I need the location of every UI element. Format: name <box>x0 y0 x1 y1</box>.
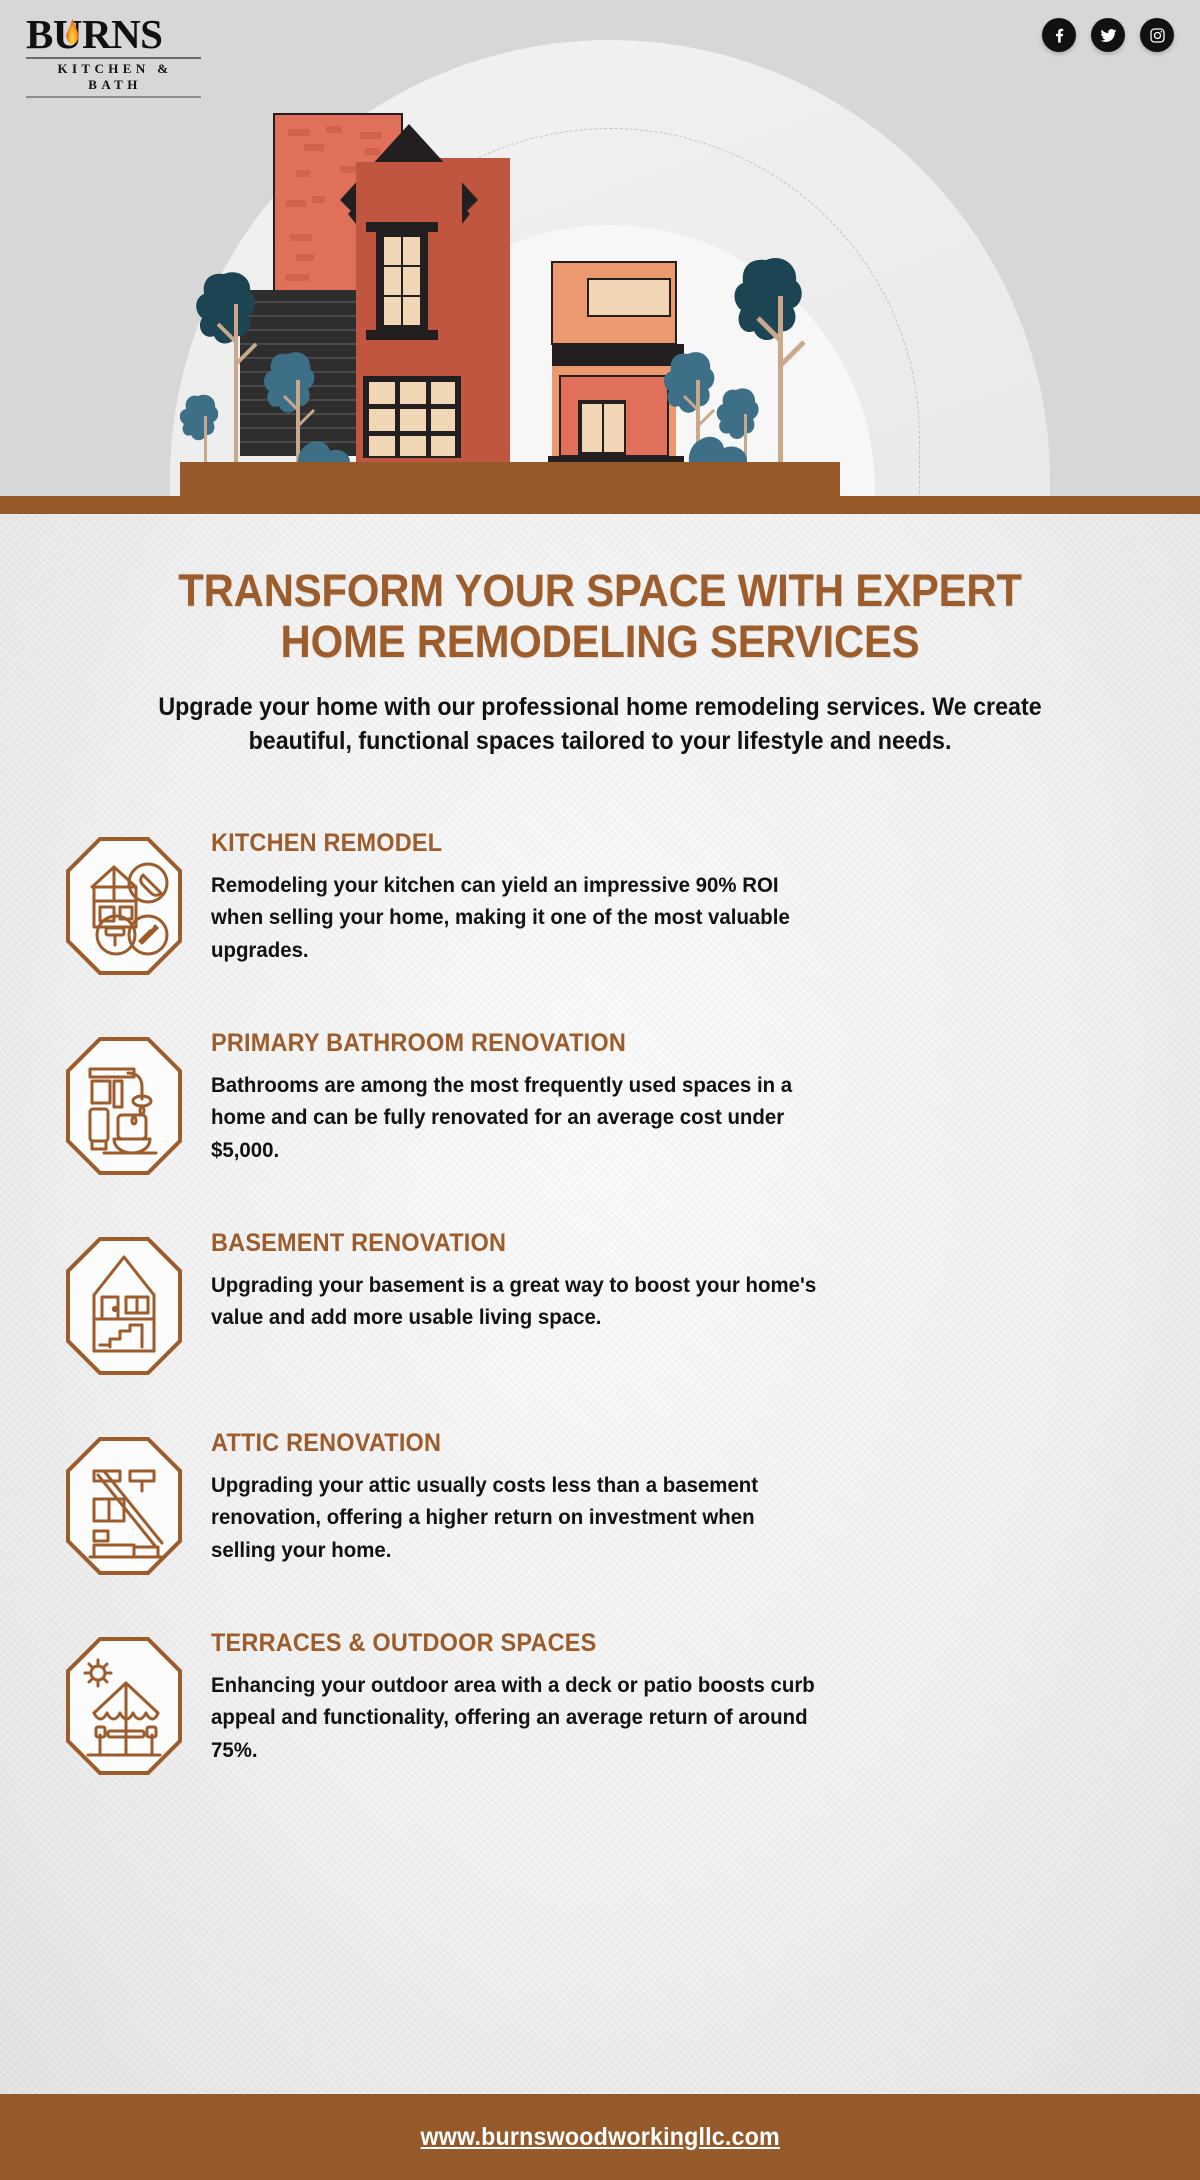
service-icon-wrap <box>46 1629 201 1777</box>
service-title: ATTIC RENOVATION <box>211 1429 1103 1458</box>
infographic-page: BURNS KITCHEN & BATH <box>0 0 1200 2180</box>
kitchen-remodel-icon <box>64 835 184 977</box>
website-url[interactable]: www.burnswoodworkingllc.com <box>420 2123 779 2152</box>
social-links <box>1042 18 1174 52</box>
service-description: Bathrooms are among the most frequently … <box>211 1069 819 1167</box>
service-text: KITCHEN REMODEL Remodeling your kitchen … <box>201 829 1160 967</box>
service-icon-wrap <box>46 1029 201 1177</box>
service-description: Upgrading your attic usually costs less … <box>211 1469 819 1567</box>
services-list: KITCHEN REMODEL Remodeling your kitchen … <box>0 829 1200 1801</box>
service-item-bathroom-renovation[interactable]: PRIMARY BATHROOM RENOVATION Bathrooms ar… <box>0 1029 1200 1201</box>
basement-renovation-icon <box>64 1235 184 1377</box>
service-title: BASEMENT RENOVATION <box>211 1229 1103 1258</box>
brand-tagline: KITCHEN & BATH <box>26 61 201 93</box>
service-icon-wrap <box>46 1229 201 1377</box>
service-title: PRIMARY BATHROOM RENOVATION <box>211 1029 1103 1058</box>
service-text: BASEMENT RENOVATION Upgrading your basem… <box>201 1229 1160 1334</box>
service-description: Enhancing your outdoor area with a deck … <box>211 1669 819 1767</box>
logo-divider-top <box>26 57 201 59</box>
main-content: TRANSFORM YOUR SPACE WITH EXPERT HOME RE… <box>0 514 1200 2094</box>
service-icon-wrap <box>46 829 201 977</box>
terraces-outdoor-icon <box>64 1635 184 1777</box>
service-text: PRIMARY BATHROOM RENOVATION Bathrooms ar… <box>201 1029 1160 1167</box>
brown-divider-bar <box>0 496 1200 514</box>
service-icon-wrap <box>46 1429 201 1577</box>
brand-logo[interactable]: BURNS KITCHEN & BATH <box>26 14 201 98</box>
page-subtitle: Upgrade your home with our professional … <box>126 690 1075 759</box>
service-item-kitchen-remodel[interactable]: KITCHEN REMODEL Remodeling your kitchen … <box>0 829 1200 1001</box>
service-description: Remodeling your kitchen can yield an imp… <box>211 869 819 967</box>
service-description: Upgrading your basement is a great way t… <box>211 1269 819 1334</box>
hero-section: BURNS KITCHEN & BATH <box>0 0 1200 496</box>
attic-renovation-icon <box>64 1435 184 1577</box>
service-title: TERRACES & OUTDOOR SPACES <box>211 1629 1103 1658</box>
service-text: ATTIC RENOVATION Upgrading your attic us… <box>201 1429 1160 1567</box>
instagram-icon[interactable] <box>1140 18 1174 52</box>
house-illustration <box>180 104 840 496</box>
page-title: TRANSFORM YOUR SPACE WITH EXPERT HOME RE… <box>126 566 1075 668</box>
service-title: KITCHEN REMODEL <box>211 829 1103 858</box>
service-item-attic-renovation[interactable]: ATTIC RENOVATION Upgrading your attic us… <box>0 1429 1200 1601</box>
logo-divider-bottom <box>26 96 201 98</box>
facebook-icon[interactable] <box>1042 18 1076 52</box>
brand-name: BURNS <box>26 14 201 54</box>
service-text: TERRACES & OUTDOOR SPACES Enhancing your… <box>201 1629 1160 1767</box>
service-item-basement-renovation[interactable]: BASEMENT RENOVATION Upgrading your basem… <box>0 1229 1200 1401</box>
bathroom-renovation-icon <box>64 1035 184 1177</box>
footer-bar: www.burnswoodworkingllc.com <box>0 2094 1200 2180</box>
service-item-terraces-outdoor[interactable]: TERRACES & OUTDOOR SPACES Enhancing your… <box>0 1629 1200 1801</box>
twitter-icon[interactable] <box>1091 18 1125 52</box>
